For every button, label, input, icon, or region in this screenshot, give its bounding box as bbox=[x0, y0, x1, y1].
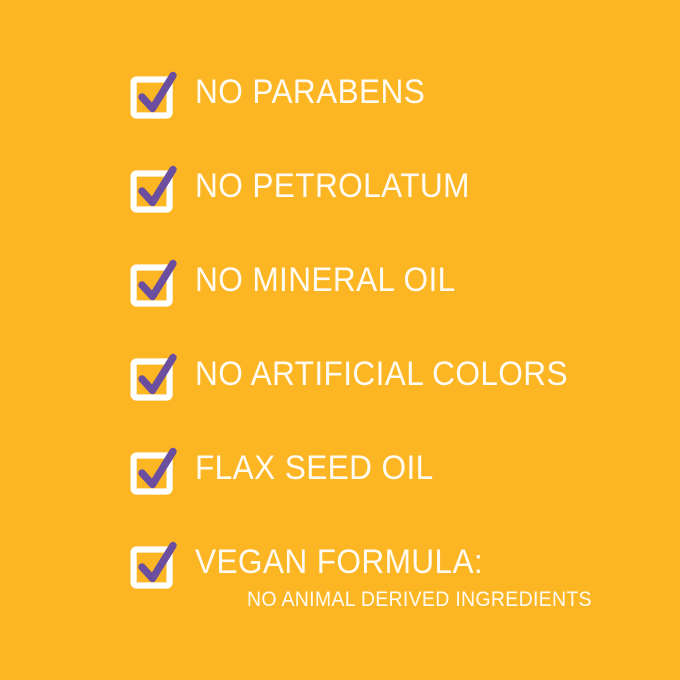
benefit-label: NO PETROLATUM bbox=[195, 169, 470, 203]
list-item-text: NO MINERAL OIL bbox=[195, 260, 475, 297]
benefit-sublabel: NO ANIMAL DERIVED INGREDIENTS bbox=[247, 589, 592, 610]
benefit-label: NO ARTIFICIAL COLORS bbox=[195, 357, 568, 391]
benefits-panel: NO PARABENS NO PETROLATUM bbox=[0, 0, 680, 680]
checked-checkbox-icon bbox=[130, 262, 178, 310]
checked-checkbox-icon bbox=[130, 168, 178, 216]
list-item: NO ARTIFICIAL COLORS bbox=[130, 354, 650, 448]
checked-checkbox-icon bbox=[130, 356, 178, 404]
list-item-text: VEGAN FORMULA: NO ANIMAL DERIVED INGREDI… bbox=[195, 542, 618, 610]
benefits-list: NO PARABENS NO PETROLATUM bbox=[130, 72, 650, 636]
checked-checkbox-icon bbox=[130, 450, 178, 498]
benefit-label: FLAX SEED OIL bbox=[195, 451, 434, 485]
list-item-text: NO PETROLATUM bbox=[195, 166, 490, 203]
benefit-label: NO MINERAL OIL bbox=[195, 263, 456, 297]
benefit-label: VEGAN FORMULA: bbox=[195, 545, 588, 579]
list-item: FLAX SEED OIL bbox=[130, 448, 650, 542]
list-item: NO PETROLATUM bbox=[130, 166, 650, 260]
list-item-text: NO ARTIFICIAL COLORS bbox=[195, 354, 596, 391]
list-item-text: NO PARABENS bbox=[195, 72, 443, 109]
checked-checkbox-icon bbox=[130, 74, 178, 122]
checked-checkbox-icon bbox=[130, 544, 178, 592]
list-item-text: FLAX SEED OIL bbox=[195, 448, 452, 485]
list-item: VEGAN FORMULA: NO ANIMAL DERIVED INGREDI… bbox=[130, 542, 650, 636]
benefit-label: NO PARABENS bbox=[195, 75, 425, 109]
list-item: NO MINERAL OIL bbox=[130, 260, 650, 354]
list-item: NO PARABENS bbox=[130, 72, 650, 166]
